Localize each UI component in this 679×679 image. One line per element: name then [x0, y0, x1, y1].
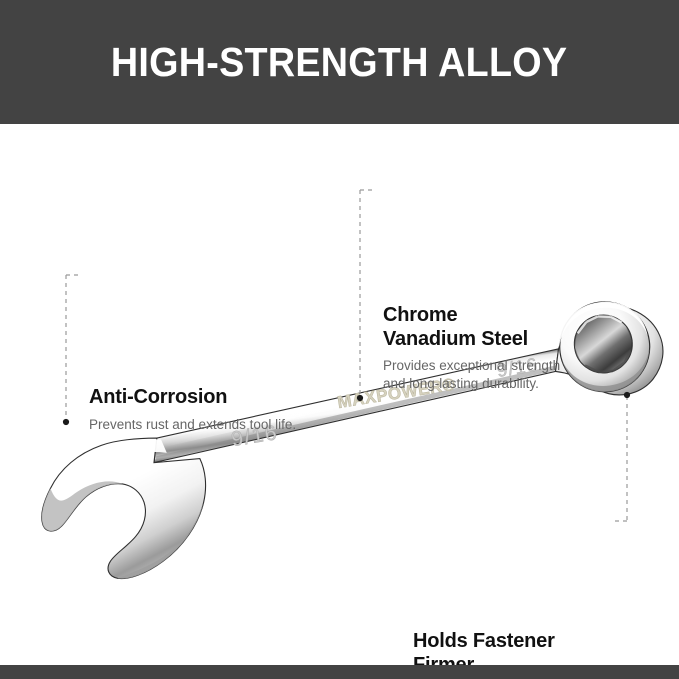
anchor-dot-anti-corrosion [63, 419, 69, 425]
callout-anti-corrosion-title: Anti-Corrosion [89, 386, 339, 410]
anchor-dot-holds-fastener [624, 392, 630, 398]
callout-chrome-vanadium: Chrome Vanadium Steel Provides exception… [383, 304, 613, 393]
callout-anti-corrosion-body: Prevents rust and extends tool life. [89, 416, 339, 434]
header-banner: HIGH-STRENGTH ALLOY [0, 0, 679, 124]
jaw-mouth-shade [38, 479, 127, 532]
product-stage: 9/16 MAXPOWER® 9/16 [0, 124, 679, 665]
infographic-page: HIGH-STRENGTH ALLOY [0, 0, 679, 679]
jaw-lower-rim [109, 503, 212, 580]
callout-chrome-vanadium-body: Provides exceptional strength and long-l… [383, 357, 613, 393]
anchor-dot-chrome-vanadium [357, 395, 363, 401]
callout-anti-corrosion: Anti-Corrosion Prevents rust and extends… [89, 386, 339, 433]
jaw-highlight [52, 436, 171, 496]
open-end-jaw [33, 430, 217, 588]
footer-bar [0, 665, 679, 679]
callout-chrome-vanadium-title: Chrome Vanadium Steel [383, 304, 613, 351]
page-title: HIGH-STRENGTH ALLOY [111, 39, 567, 86]
